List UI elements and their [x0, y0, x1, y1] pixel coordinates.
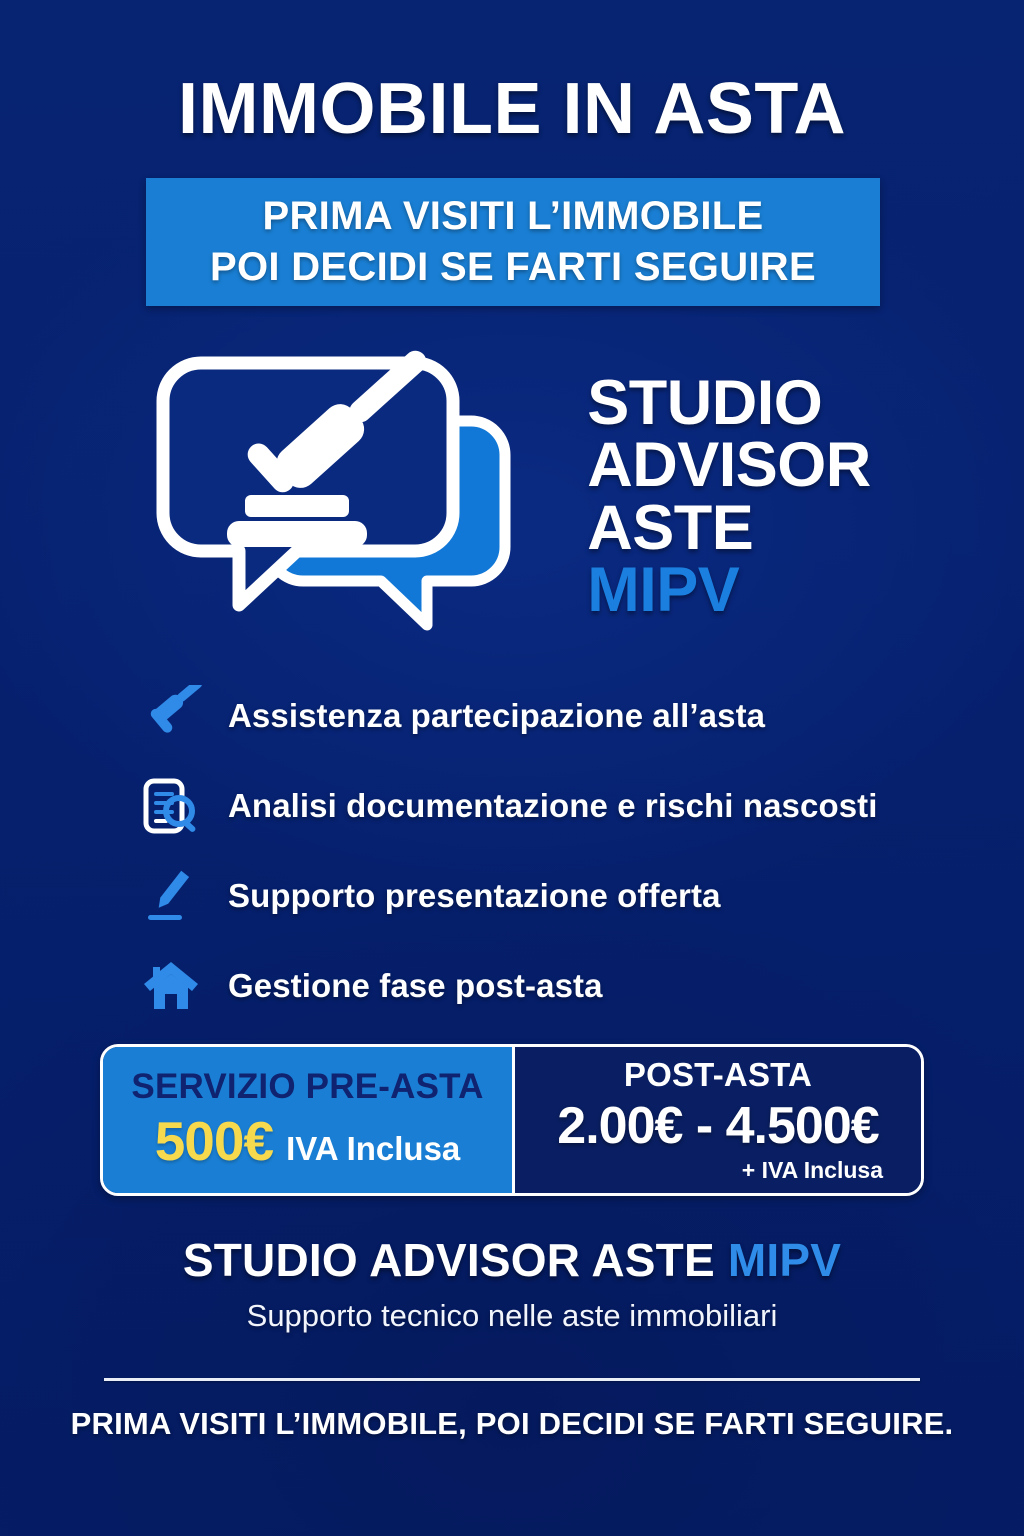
subheadline-line-2: POI DECIDI SE FARTI SEGUIRE [210, 242, 816, 293]
pricing-pre-asta-title: SERVIZIO PRE-ASTA [131, 1067, 483, 1107]
pen-signature-icon [140, 865, 202, 927]
list-item: Gestione fase post-asta [140, 950, 940, 1022]
list-item: Analisi documentazione e rischi nascosti [140, 770, 940, 842]
pricing-pre-asta-panel: SERVIZIO PRE-ASTA 500€ IVA Inclusa [103, 1047, 515, 1193]
document-search-icon [140, 775, 202, 837]
pricing-post-asta-amount: 2.00€ - 4.500€ [557, 1096, 878, 1156]
subheadline-line-1: PRIMA VISITI L’IMMOBILE [263, 191, 764, 242]
footer-tagline: Supporto tecnico nelle aste immobiliari [0, 1298, 1024, 1334]
page-title: IMMOBILE IN ASTA [0, 68, 1024, 150]
brand-block: STUDIO ADVISOR ASTE MIPV [0, 345, 1024, 640]
list-item-label: Supporto presentazione offerta [228, 877, 721, 915]
list-item-label: Assistenza partecipazione all’asta [228, 697, 765, 735]
list-item: Supporto presentazione offerta [140, 860, 940, 932]
brand-line-mipv: MIPV [587, 559, 871, 621]
pricing-box: SERVIZIO PRE-ASTA 500€ IVA Inclusa POST-… [100, 1044, 924, 1196]
footer-cta: PRIMA VISITI L’IMMOBILE, POI DECIDI SE F… [0, 1406, 1024, 1442]
pricing-pre-asta-amount: 500€ [155, 1109, 273, 1173]
feature-list: Assistenza partecipazione all’asta Anali… [140, 680, 940, 1022]
list-item-label: Analisi documentazione e rischi nascosti [228, 787, 878, 825]
footer-brand-main: STUDIO ADVISOR ASTE [183, 1234, 728, 1286]
poster-root: IMMOBILE IN ASTA PRIMA VISITI L’IMMOBILE… [0, 0, 1024, 1536]
pricing-pre-asta-note: IVA Inclusa [286, 1130, 460, 1168]
pricing-post-asta-title: POST-ASTA [624, 1056, 812, 1094]
pricing-pre-asta-row: 500€ IVA Inclusa [155, 1109, 461, 1173]
list-item-label: Gestione fase post-asta [228, 967, 603, 1005]
brand-line-advisor: ADVISOR [587, 434, 871, 496]
subheadline-banner: PRIMA VISITI L’IMMOBILE POI DECIDI SE FA… [146, 178, 880, 306]
pricing-post-asta-note: + IVA Inclusa [742, 1157, 883, 1184]
footer-brand: STUDIO ADVISOR ASTE MIPV [0, 1233, 1024, 1287]
brand-line-studio: STUDIO [587, 372, 871, 434]
list-item: Assistenza partecipazione all’asta [140, 680, 940, 752]
brand-wordmark: STUDIO ADVISOR ASTE MIPV [587, 364, 871, 621]
pricing-post-asta-panel: POST-ASTA 2.00€ - 4.500€ + IVA Inclusa [515, 1047, 921, 1193]
gavel-speech-bubble-logo [153, 345, 553, 640]
footer-divider [104, 1378, 920, 1381]
gavel-icon [140, 685, 202, 747]
house-icon [140, 955, 202, 1017]
footer-brand-accent: MIPV [728, 1234, 841, 1286]
brand-line-aste: ASTE [587, 497, 871, 559]
